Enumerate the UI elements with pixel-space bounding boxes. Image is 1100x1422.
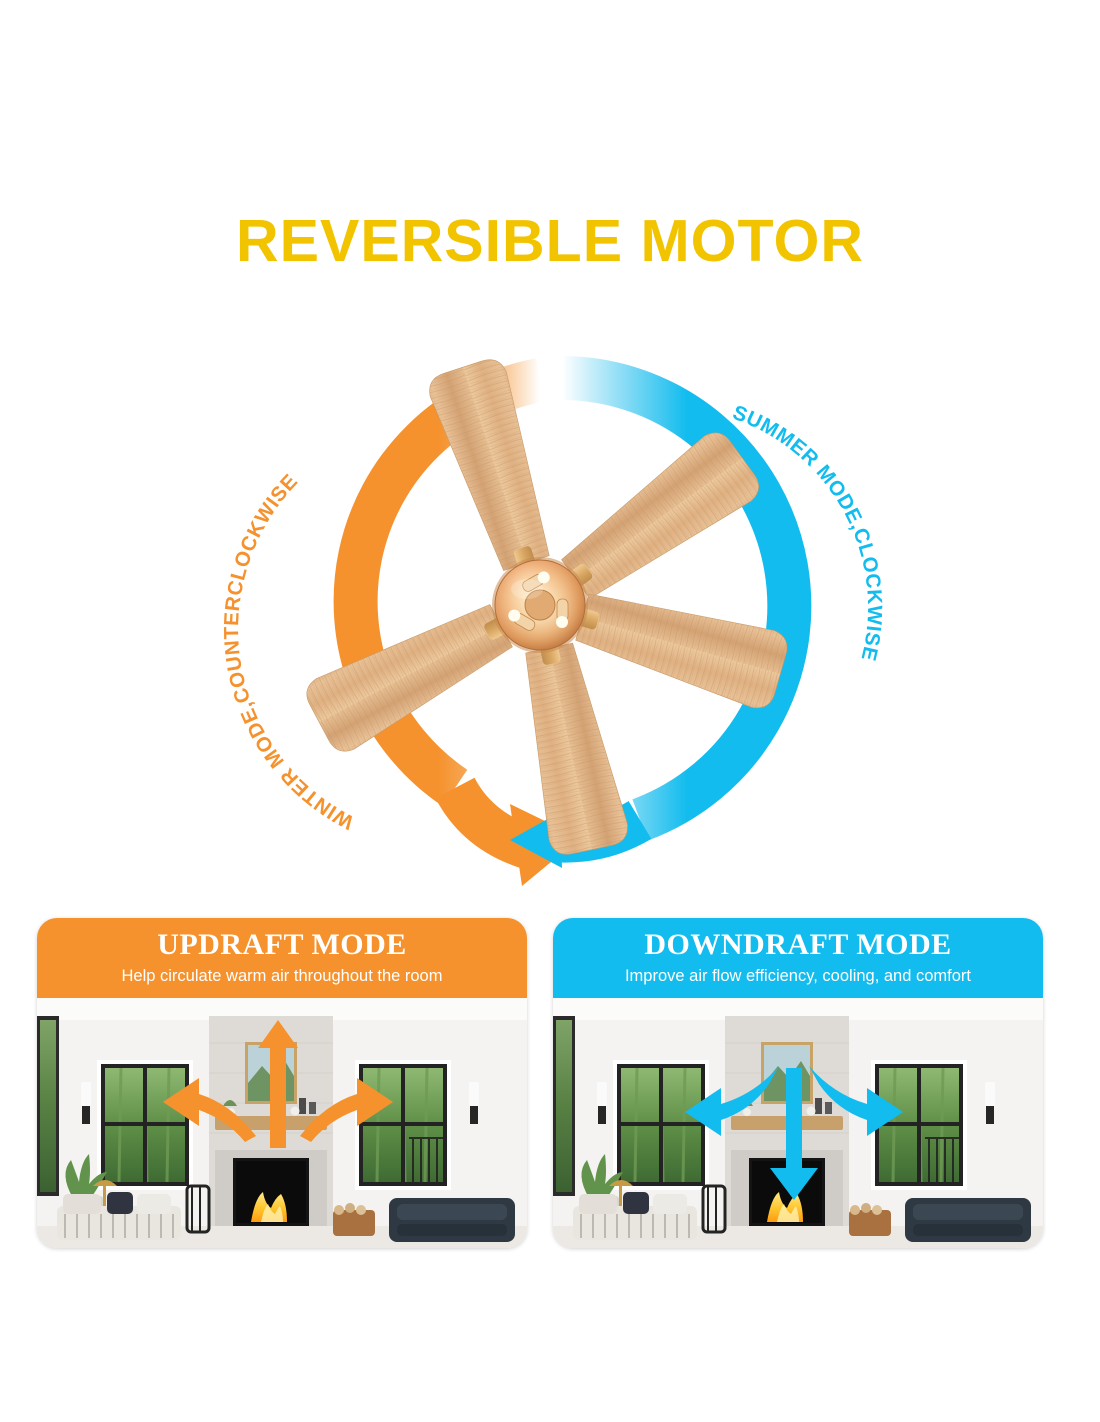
downdraft-subtitle: Improve air flow efficiency, cooling, an…	[553, 964, 1043, 988]
page-title: REVERSIBLE MOTOR	[0, 212, 1100, 271]
wall-sconce	[597, 1082, 607, 1124]
sofa	[57, 1192, 181, 1240]
downdraft-mode-panel[interactable]: DOWNDRAFT MODE Improve air flow efficien…	[553, 918, 1043, 1248]
leather-chair	[905, 1198, 1031, 1242]
updraft-title: UPDRAFT MODE	[37, 926, 527, 964]
sofa	[573, 1192, 697, 1240]
wall-sconce	[985, 1082, 995, 1124]
updraft-panel-header: UPDRAFT MODE Help circulate warm air thr…	[37, 918, 527, 998]
wall-sconce	[81, 1082, 91, 1124]
fan-blade	[571, 579, 791, 713]
downdraft-room-scene	[553, 998, 1043, 1248]
updraft-subtitle: Help circulate warm air throughout the r…	[37, 964, 527, 988]
fan-motor-hub	[492, 557, 588, 653]
reversible-motor-diagram: WINTER MODE,COUNTERCLOCKWISE SUMMER MODE…	[210, 320, 890, 900]
spotlight	[556, 599, 568, 628]
downdraft-panel-header: DOWNDRAFT MODE Improve air flow efficien…	[553, 918, 1043, 998]
wall-sconce	[469, 1082, 479, 1124]
fan-blade	[425, 355, 565, 576]
updraft-mode-panel[interactable]: UPDRAFT MODE Help circulate warm air thr…	[37, 918, 527, 1248]
leather-chair	[389, 1198, 515, 1242]
winter-mode-label: WINTER MODE,COUNTERCLOCKWISE	[220, 469, 358, 833]
downdraft-title: DOWNDRAFT MODE	[553, 926, 1043, 964]
updraft-room-scene	[37, 998, 527, 1248]
